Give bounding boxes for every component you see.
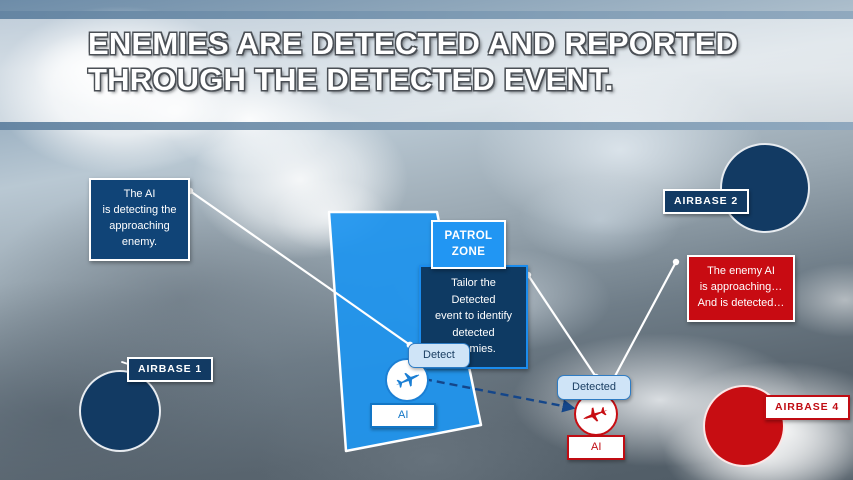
callout-tailor-line2: event to identify xyxy=(430,308,517,325)
friendly-ai-label[interactable]: AI xyxy=(370,403,436,428)
callout-ai-detecting-line1: The AI xyxy=(99,187,180,203)
callout-enemy-ai[interactable]: The enemy AI is approaching… And is dete… xyxy=(687,255,795,322)
patrol-zone-label-line1: PATROL xyxy=(443,229,494,245)
airbase-2-label[interactable]: AIRBASE 2 xyxy=(663,189,749,214)
fighter-jet-icon xyxy=(581,399,611,429)
enemy-ai-label[interactable]: AI xyxy=(567,435,625,460)
slide-canvas: ENEMIES ARE DETECTED AND REPORTED THROUG… xyxy=(0,0,853,480)
airbase-4-label[interactable]: AIRBASE 4 xyxy=(764,395,850,420)
airbase-1-circle[interactable] xyxy=(79,370,161,452)
connector-line-enemy-to-detected xyxy=(614,262,676,378)
patrol-zone-label[interactable]: PATROL ZONE xyxy=(431,220,506,269)
connector-line-tailor-to-detected xyxy=(528,275,596,377)
airbase-2-circle[interactable] xyxy=(720,143,810,233)
connector-endpoint-dot xyxy=(673,259,679,265)
fighter-jet-icon xyxy=(392,365,422,395)
callout-enemy-ai-line3: And is detected… xyxy=(697,296,785,312)
callout-enemy-ai-line1: The enemy AI xyxy=(697,264,785,280)
callout-tailor-line1: Tailor the Detected xyxy=(430,275,517,308)
callout-enemy-ai-line2: is approaching… xyxy=(697,280,785,296)
patrol-zone-label-line2: ZONE xyxy=(443,245,494,261)
callout-ai-detecting[interactable]: The AI is detecting the approaching enem… xyxy=(89,178,190,261)
airbase-1-label[interactable]: AIRBASE 1 xyxy=(127,357,213,382)
callout-ai-detecting-line3: approaching enemy. xyxy=(99,219,180,251)
connector-line-ai-detecting xyxy=(190,191,329,288)
callout-ai-detecting-line2: is detecting the xyxy=(99,203,180,219)
detected-event-chip[interactable]: Detected xyxy=(557,375,631,400)
detect-event-chip[interactable]: Detect xyxy=(408,343,470,368)
